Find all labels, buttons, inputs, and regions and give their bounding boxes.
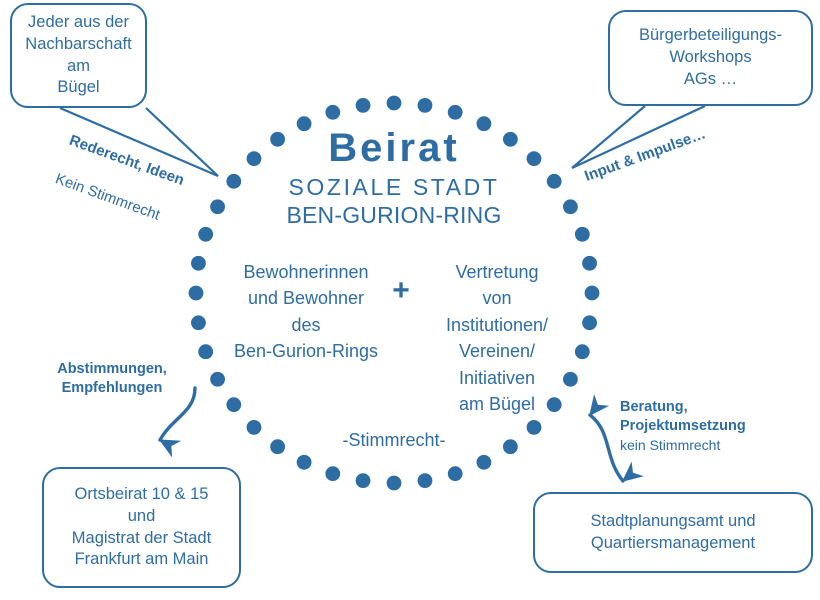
ring-dot bbox=[585, 286, 600, 301]
ring-dot bbox=[356, 473, 371, 488]
ring-dot bbox=[247, 420, 262, 435]
ring-dot bbox=[418, 473, 433, 488]
ring-dot bbox=[418, 98, 433, 113]
ring-dot bbox=[387, 96, 402, 111]
ring-dot bbox=[448, 466, 463, 481]
member-group-institutions: Vertretung von Institutionen/ Vereinen/ … bbox=[414, 259, 580, 418]
ring-dot bbox=[198, 227, 213, 242]
ring-dot bbox=[547, 174, 562, 189]
ring-dot bbox=[325, 466, 340, 481]
box-stadtplanungsamt-quartiersmanagement: Stadtplanungsamt und Quartiersmanagement bbox=[533, 492, 813, 573]
ring-dot bbox=[575, 227, 590, 242]
page-title: Beirat bbox=[254, 128, 534, 168]
ring-dot bbox=[297, 455, 312, 470]
box-ortsbeirat-magistrat-text: Ortsbeirat 10 & 15 und Magistrat der Sta… bbox=[44, 484, 239, 571]
ring-dot bbox=[210, 199, 225, 214]
ring-dot bbox=[527, 420, 542, 435]
box-stadtplanungsamt-quartiersmanagement-text: Stadtplanungsamt und Quartiersmanagement bbox=[535, 511, 811, 555]
speech-bubble-neighbourhood-text: Jeder aus der Nachbarschaft am Bügel bbox=[12, 12, 145, 99]
ring-dot bbox=[270, 439, 285, 454]
ring-dot bbox=[191, 256, 206, 271]
ring-dot bbox=[198, 344, 213, 359]
connector-label-beratung-line1: Beratung, bbox=[620, 398, 795, 417]
ring-dot bbox=[503, 439, 518, 454]
ring-dot bbox=[387, 476, 402, 491]
speech-bubble-participation: Bürgerbeteiligungs- Workshops AGs … bbox=[608, 10, 813, 106]
diagram-canvas: Jeder aus der Nachbarschaft am Bügel Bür… bbox=[0, 0, 820, 600]
ring-dot bbox=[582, 315, 597, 330]
member-group-residents: Bewohnerinnen und Bewohner des Ben-Gurio… bbox=[222, 259, 390, 365]
connector-label-abstimmungen: Abstimmungen, Empfehlungen bbox=[36, 360, 188, 398]
ring-dot bbox=[476, 455, 491, 470]
connector-label-input-impulse: Input & Impulse… bbox=[582, 124, 709, 187]
speech-bubble-participation-text: Bürgerbeteiligungs- Workshops AGs … bbox=[610, 25, 811, 90]
arrow-beratung bbox=[590, 415, 623, 481]
box-ortsbeirat-magistrat: Ortsbeirat 10 & 15 und Magistrat der Sta… bbox=[42, 467, 241, 588]
connector-label-rederecht: Rederecht, Ideen Kein Stimmrecht bbox=[45, 112, 193, 248]
page-subtitle: SOZIALE STADT bbox=[254, 176, 534, 199]
speech-bubble-neighbourhood: Jeder aus der Nachbarschaft am Bügel bbox=[10, 3, 147, 108]
connector-label-beratung-line3: kein Stimmrecht bbox=[620, 436, 795, 454]
ring-dot bbox=[226, 174, 241, 189]
ring-dot bbox=[191, 315, 206, 330]
voting-rights-note: -Stimmrecht- bbox=[294, 431, 494, 449]
ring-dot bbox=[448, 105, 463, 120]
ring-dot bbox=[582, 256, 597, 271]
ring-dot bbox=[356, 98, 371, 113]
ring-dot bbox=[210, 372, 225, 387]
page-subtitle-secondary: BEN-GURION-RING bbox=[254, 204, 534, 227]
ring-dot bbox=[226, 397, 241, 412]
connector-label-beratung: Beratung, Projektumsetzung kein Stimmrec… bbox=[620, 398, 795, 454]
ring-dot bbox=[563, 199, 578, 214]
ring-dot bbox=[325, 105, 340, 120]
ring-dot bbox=[189, 286, 204, 301]
connector-label-beratung-line2: Projektumsetzung bbox=[620, 417, 795, 436]
